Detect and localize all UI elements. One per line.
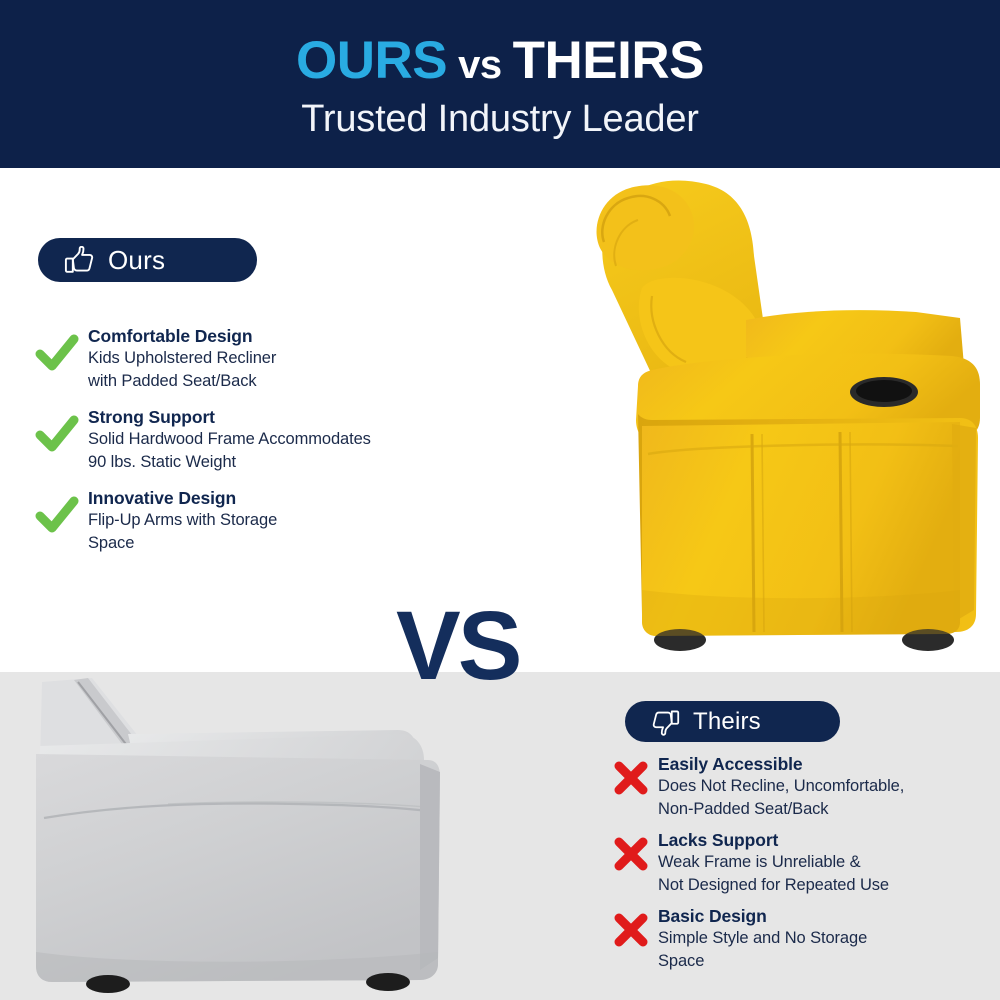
list-item-heading: Lacks Support — [658, 829, 889, 851]
list-item-heading: Strong Support — [88, 406, 371, 428]
list-item-body: Solid Hardwood Frame Accommodates 90 lbs… — [88, 428, 371, 473]
thumbs-up-icon — [64, 246, 95, 275]
list-item-text: Comfortable Design Kids Upholstered Recl… — [88, 325, 276, 392]
page-subtitle: Trusted Industry Leader — [301, 100, 698, 138]
thumbs-down-icon — [651, 708, 680, 736]
list-item-body: Simple Style and No Storage Space — [658, 927, 867, 972]
comparison-infographic: OURS vs THEIRS Trusted Industry Leader O… — [0, 0, 1000, 1000]
header-banner: OURS vs THEIRS Trusted Industry Leader — [0, 0, 1000, 168]
ours-badge: Ours — [38, 238, 257, 282]
theirs-badge-label: Theirs — [693, 710, 761, 734]
check-icon — [34, 493, 80, 537]
title-ours: OURS — [296, 34, 447, 87]
list-item: Basic Design Simple Style and No Storage… — [610, 905, 1000, 972]
theirs-badge: Theirs — [625, 701, 840, 742]
list-item-heading: Comfortable Design — [88, 325, 276, 347]
list-item-text: Basic Design Simple Style and No Storage… — [658, 905, 867, 972]
list-item-heading: Easily Accessible — [658, 753, 904, 775]
list-item-heading: Basic Design — [658, 905, 867, 927]
list-item-text: Strong Support Solid Hardwood Frame Acco… — [88, 406, 371, 473]
title-theirs: THEIRS — [513, 34, 704, 87]
page-title: OURS vs THEIRS — [296, 34, 704, 87]
list-item-text: Lacks Support Weak Frame is Unreliable &… — [658, 829, 889, 896]
theirs-product-image — [0, 668, 448, 1000]
list-item-body: Does Not Recline, Uncomfortable, Non-Pad… — [658, 775, 904, 820]
check-icon — [34, 331, 80, 375]
check-icon — [34, 412, 80, 456]
list-item-body: Weak Frame is Unreliable & Not Designed … — [658, 851, 889, 896]
cross-icon — [610, 758, 652, 798]
list-item: Lacks Support Weak Frame is Unreliable &… — [610, 829, 1000, 896]
list-item-text: Easily Accessible Does Not Recline, Unco… — [658, 753, 904, 820]
ours-feature-list: Comfortable Design Kids Upholstered Recl… — [34, 325, 514, 568]
list-item-body: Kids Upholstered Recliner with Padded Se… — [88, 347, 276, 392]
cross-icon — [610, 910, 652, 950]
list-item: Easily Accessible Does Not Recline, Unco… — [610, 753, 1000, 820]
versus-divider: VS — [396, 597, 519, 694]
list-item: Comfortable Design Kids Upholstered Recl… — [34, 325, 514, 392]
ours-badge-label: Ours — [108, 247, 165, 273]
list-item-text: Innovative Design Flip-Up Arms with Stor… — [88, 487, 277, 554]
title-vs: vs — [458, 45, 502, 85]
list-item-heading: Innovative Design — [88, 487, 277, 509]
cross-icon — [610, 834, 652, 874]
list-item-body: Flip-Up Arms with Storage Space — [88, 509, 277, 554]
list-item: Strong Support Solid Hardwood Frame Acco… — [34, 406, 514, 473]
ours-product-image — [556, 170, 992, 670]
list-item: Innovative Design Flip-Up Arms with Stor… — [34, 487, 514, 554]
theirs-feature-list: Easily Accessible Does Not Recline, Unco… — [610, 753, 1000, 981]
